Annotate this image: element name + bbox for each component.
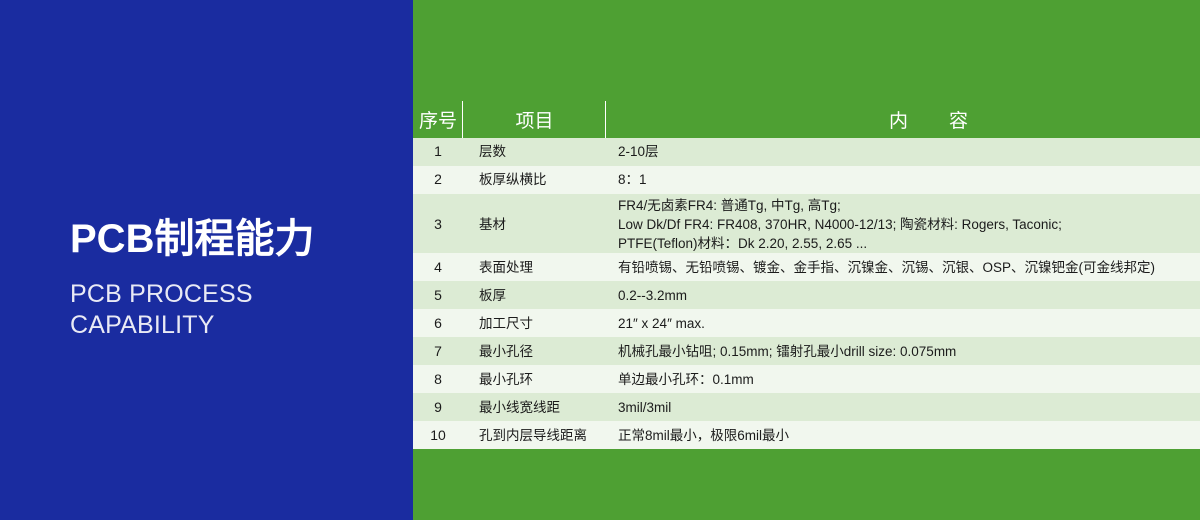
cell-item: 板厚: [463, 281, 606, 309]
cell-item: 最小孔环: [463, 365, 606, 393]
cell-item: 加工尺寸: [463, 309, 606, 337]
table-row: 8 最小孔环 单边最小孔环：0.1mm: [413, 365, 1200, 393]
cell-item: 基材: [463, 194, 606, 253]
cell-item: 表面处理: [463, 253, 606, 281]
cell-no: 5: [413, 281, 463, 309]
left-title-panel: PCB制程能力 PCB PROCESS CAPABILITY: [0, 0, 407, 520]
cell-content: 正常8mil最小，极限6mil最小: [606, 421, 1200, 449]
content-multiline: FR4/无卤素FR4: 普通Tg, 中Tg, 高Tg; Low Dk/Df FR…: [618, 196, 1200, 253]
title-block: PCB制程能力 PCB PROCESS CAPABILITY: [70, 218, 400, 340]
slide-root: PCB制程能力 PCB PROCESS CAPABILITY 序号 项目 内 容: [0, 0, 1200, 520]
cell-no: 10: [413, 421, 463, 449]
cell-content: 3mil/3mil: [606, 393, 1200, 421]
table-row: 10 孔到内层导线距离 正常8mil最小，极限6mil最小: [413, 421, 1200, 449]
cell-content: 8：1: [606, 166, 1200, 194]
table-body: 1 层数 2-10层 2 板厚纵横比 8：1 3 基材 FR4/无卤素FR4: …: [413, 138, 1200, 449]
pcb-capability-table: 序号 项目 内 容 1 层数 2-10层 2 板厚纵横比 8：1 3: [413, 101, 1200, 449]
cell-content: 21″ x 24″ max.: [606, 309, 1200, 337]
header-row: 序号 项目 内 容: [413, 101, 1200, 138]
cell-no: 9: [413, 393, 463, 421]
cell-item: 最小线宽线距: [463, 393, 606, 421]
table-row: 5 板厚 0.2--3.2mm: [413, 281, 1200, 309]
page-title-chinese: PCB制程能力: [70, 218, 400, 261]
cell-no: 6: [413, 309, 463, 337]
spec-table-container: 序号 项目 内 容 1 层数 2-10层 2 板厚纵横比 8：1 3: [413, 101, 1200, 449]
cell-content: 2-10层: [606, 138, 1200, 166]
cell-content: FR4/无卤素FR4: 普通Tg, 中Tg, 高Tg; Low Dk/Df FR…: [606, 194, 1200, 253]
table-row: 3 基材 FR4/无卤素FR4: 普通Tg, 中Tg, 高Tg; Low Dk/…: [413, 194, 1200, 253]
cell-item: 孔到内层导线距离: [463, 421, 606, 449]
cell-no: 7: [413, 337, 463, 365]
content-line-3: PTFE(Teflon)材料：Dk 2.20, 2.55, 2.65 ...: [618, 234, 1200, 253]
table-row: 4 表面处理 有铅喷锡、无铅喷锡、镀金、金手指、沉镍金、沉锡、沉银、OSP、沉镍…: [413, 253, 1200, 281]
column-header-content: 内 容: [606, 101, 1200, 138]
cell-content: 0.2--3.2mm: [606, 281, 1200, 309]
cell-item: 层数: [463, 138, 606, 166]
table-row: 2 板厚纵横比 8：1: [413, 166, 1200, 194]
cell-no: 8: [413, 365, 463, 393]
subtitle-line-2: CAPABILITY: [70, 310, 400, 341]
content-line-1: FR4/无卤素FR4: 普通Tg, 中Tg, 高Tg;: [618, 196, 1200, 215]
column-header-item: 项目: [463, 101, 606, 138]
cell-no: 3: [413, 194, 463, 253]
column-header-no: 序号: [413, 101, 463, 138]
cell-content: 有铅喷锡、无铅喷锡、镀金、金手指、沉镍金、沉锡、沉银、OSP、沉镍钯金(可金线邦…: [606, 253, 1200, 281]
table-row: 7 最小孔径 机械孔最小钻咀; 0.15mm; 镭射孔最小drill size:…: [413, 337, 1200, 365]
cell-no: 1: [413, 138, 463, 166]
cell-content: 单边最小孔环：0.1mm: [606, 365, 1200, 393]
cell-no: 4: [413, 253, 463, 281]
page-subtitle-english: PCB PROCESS CAPABILITY: [70, 279, 400, 340]
cell-content: 机械孔最小钻咀; 0.15mm; 镭射孔最小drill size: 0.075m…: [606, 337, 1200, 365]
table-header: 序号 项目 内 容: [413, 101, 1200, 138]
subtitle-line-1: PCB PROCESS: [70, 279, 400, 310]
content-line-2: Low Dk/Df FR4: FR408, 370HR, N4000-12/13…: [618, 215, 1200, 234]
cell-item: 板厚纵横比: [463, 166, 606, 194]
table-row: 9 最小线宽线距 3mil/3mil: [413, 393, 1200, 421]
cell-item: 最小孔径: [463, 337, 606, 365]
cell-no: 2: [413, 166, 463, 194]
table-row: 6 加工尺寸 21″ x 24″ max.: [413, 309, 1200, 337]
table-row: 1 层数 2-10层: [413, 138, 1200, 166]
